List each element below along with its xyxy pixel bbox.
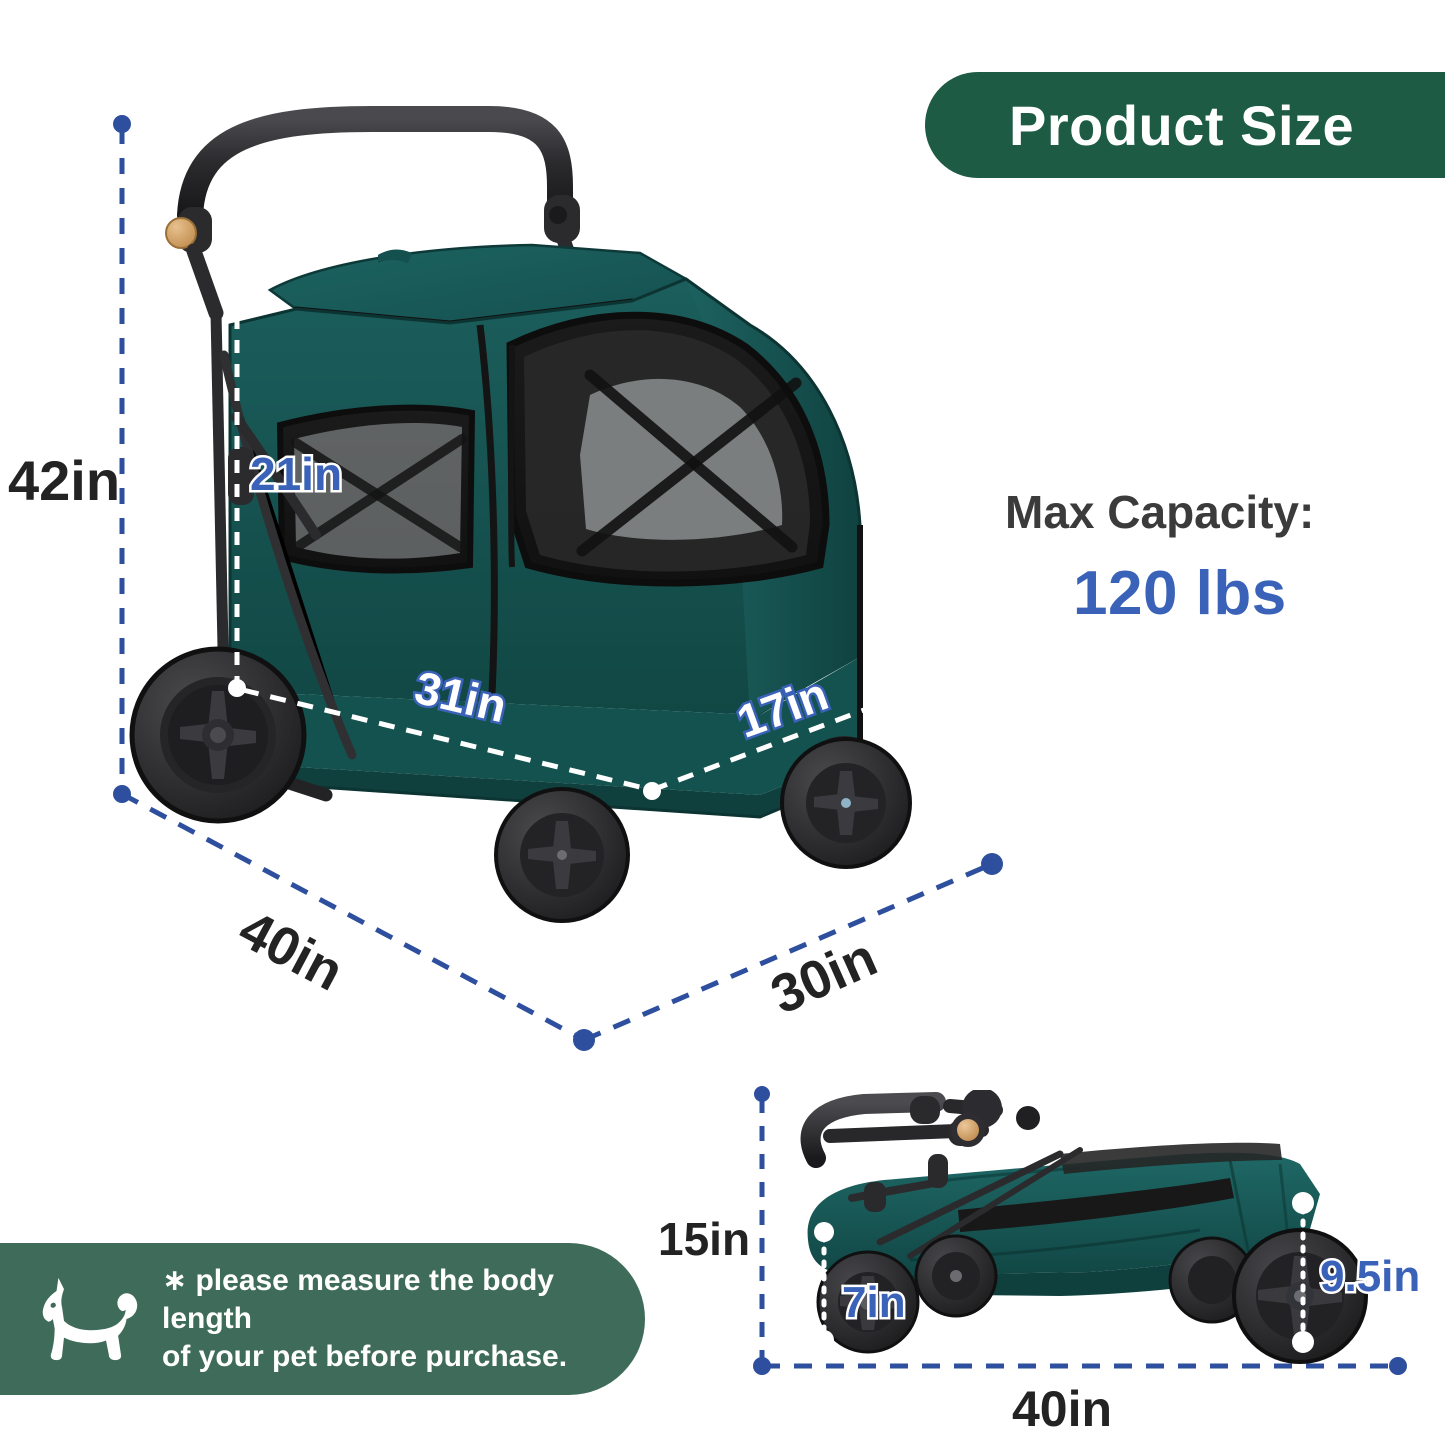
dim-label-9-5in: 9.5in <box>1320 1252 1420 1302</box>
measure-pet-banner: ∗ please measure the body length of your… <box>0 1243 645 1395</box>
dog-silhouette-icon <box>36 1271 148 1367</box>
stroller-open-illustration <box>120 95 1000 975</box>
dim-label-40in-folded: 40in <box>1012 1380 1112 1438</box>
stroller-folded-illustration <box>760 1090 1430 1390</box>
measure-pet-line1: ∗ please measure the body length <box>162 1262 645 1338</box>
max-capacity-label: Max Capacity: <box>1005 485 1314 539</box>
max-capacity-value: 120 lbs <box>1073 558 1287 629</box>
rear-wheel-left <box>132 649 304 821</box>
dim-label-7in: 7in <box>842 1278 906 1328</box>
dim-label-42in: 42in <box>8 448 120 513</box>
measure-pet-text: ∗ please measure the body length of your… <box>162 1262 645 1375</box>
infographic-canvas: Product Size Max Capacity: 120 lbs <box>0 0 1445 1445</box>
product-size-banner: Product Size <box>925 72 1445 178</box>
front-caster-right <box>782 736 910 867</box>
page-title: Product Size <box>1009 93 1354 158</box>
front-caster-center <box>496 788 628 921</box>
measure-pet-line2: of your pet before purchase. <box>162 1338 645 1376</box>
dim-label-21in: 21in <box>250 447 342 501</box>
dim-label-15in: 15in <box>658 1212 750 1266</box>
